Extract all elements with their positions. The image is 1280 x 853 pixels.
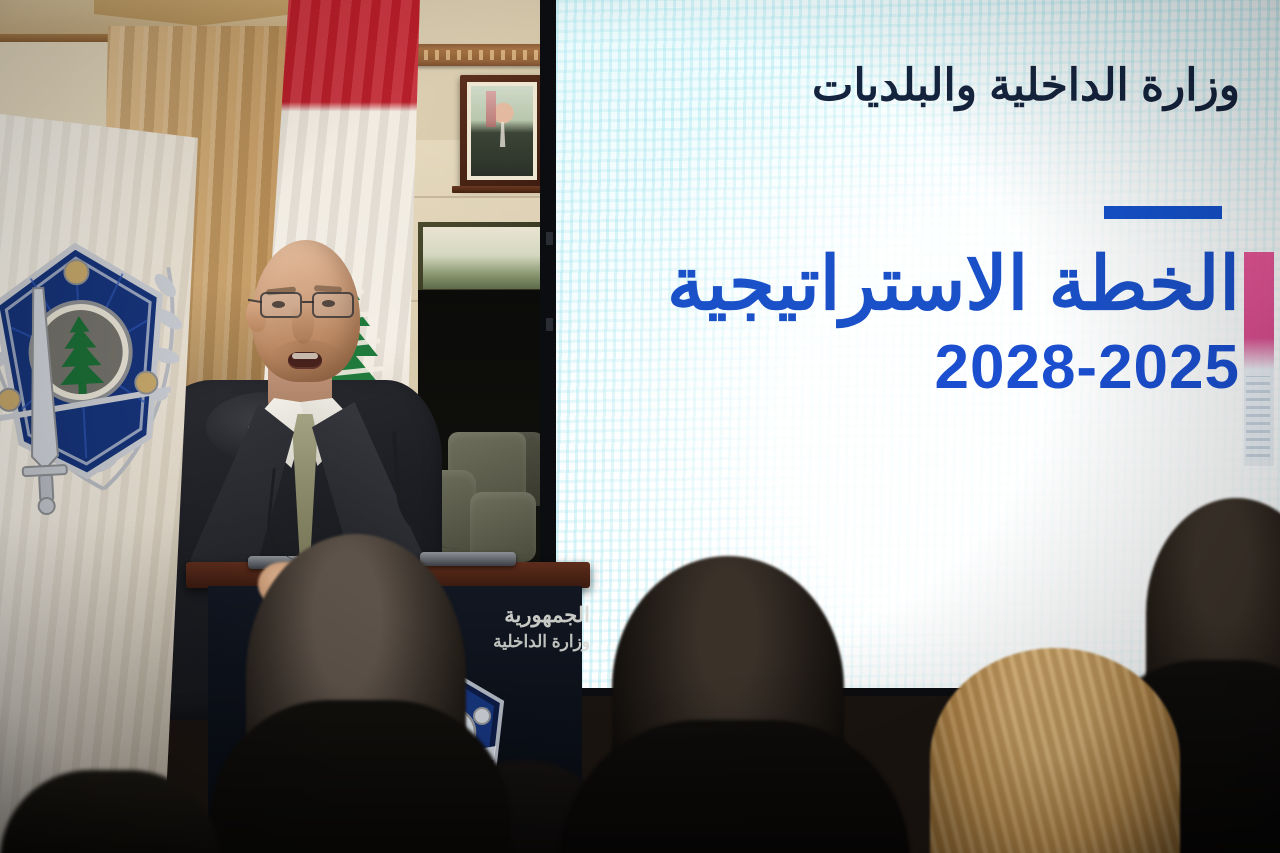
- slide-accent-rule: [1104, 206, 1222, 219]
- landscape-image: [423, 227, 553, 289]
- eyeglass-bridge: [302, 301, 314, 303]
- portrait-image: [471, 86, 533, 176]
- bezel-tab: [546, 232, 553, 245]
- framed-portrait: [460, 75, 544, 187]
- eyeglass-lens: [312, 292, 354, 318]
- press-conference-photo: وزارة الداخلية والبلديات الخطة الاستراتي…: [0, 0, 1280, 853]
- portrait-mat: [467, 82, 537, 180]
- microphone-base: [420, 552, 516, 566]
- slide-plan-years: 2028-2025: [556, 332, 1240, 403]
- slide-ministry-title: وزارة الداخلية والبلديات: [556, 62, 1240, 110]
- portrait-shelf: [452, 186, 552, 193]
- isf-flag-shading: [0, 108, 198, 853]
- speaker-teeth: [292, 353, 318, 359]
- framed-landscape: [418, 222, 558, 294]
- slide-plan-title: الخطة الاستراتيجية: [556, 245, 1240, 323]
- bezel-tab: [546, 318, 553, 331]
- speaker-nose: [292, 306, 314, 344]
